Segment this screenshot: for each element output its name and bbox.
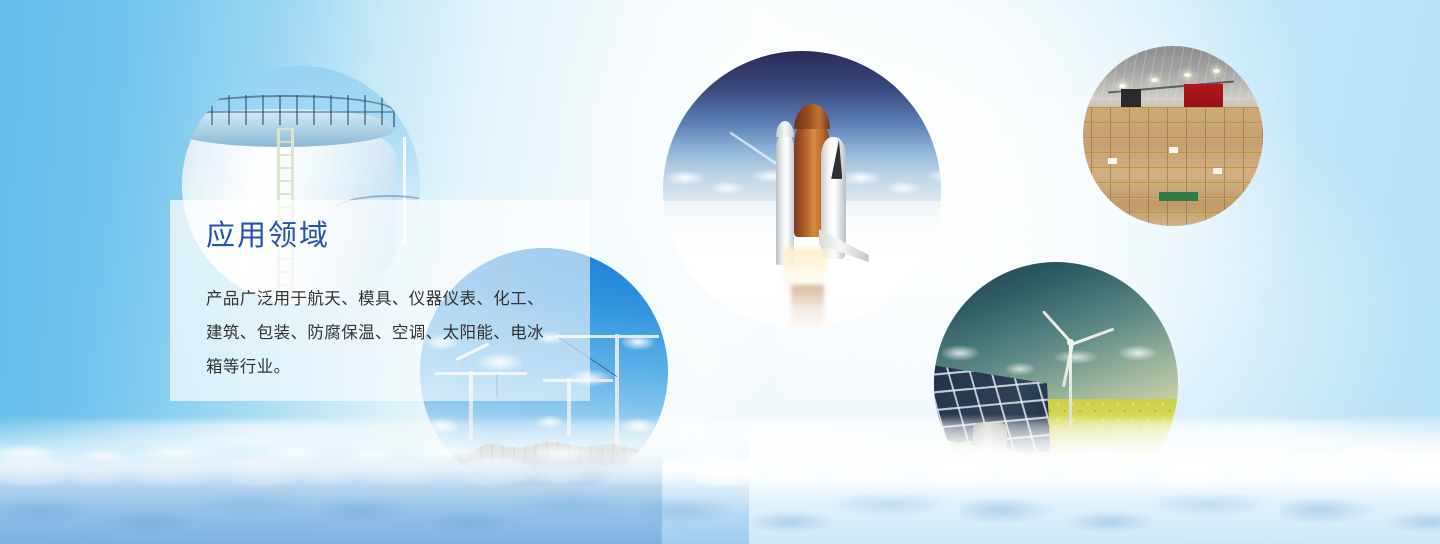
cloud-blue-wash: [0, 452, 662, 544]
space-shuttle-scene: [663, 51, 941, 329]
application-fields-banner: 应用领域 产品广泛用于航天、模具、仪器仪表、化工、建筑、包装、防腐保温、空调、太…: [0, 0, 1440, 544]
text-panel: 应用领域 产品广泛用于航天、模具、仪器仪表、化工、建筑、包装、防腐保温、空调、太…: [170, 200, 590, 401]
green-pallet: [1159, 192, 1199, 201]
warehouse-photo: [1083, 46, 1263, 226]
box-label: [1108, 158, 1117, 164]
warehouse-ceiling-panels: [1083, 46, 1263, 107]
tank-handrail-posts: [182, 95, 391, 126]
box-label: [1213, 168, 1222, 174]
ceiling-light: [1119, 84, 1126, 88]
box-label: [1169, 147, 1178, 153]
ceiling-light: [1184, 73, 1191, 77]
shuttle-exhaust-smoke: [791, 285, 824, 329]
page-title: 应用领域: [206, 221, 330, 250]
warehouse-scene: [1083, 46, 1263, 226]
space-shuttle-photo: [663, 51, 941, 329]
cardboard-box-stacks: [1083, 107, 1263, 226]
page-description: 产品广泛用于航天、模具、仪器仪表、化工、建筑、包装、防腐保温、空调、太阳能、电冰…: [206, 282, 554, 384]
wind-turbine-hub: [1067, 339, 1074, 346]
shuttle-booster: [776, 132, 794, 265]
cloud-deck: [0, 414, 1440, 544]
